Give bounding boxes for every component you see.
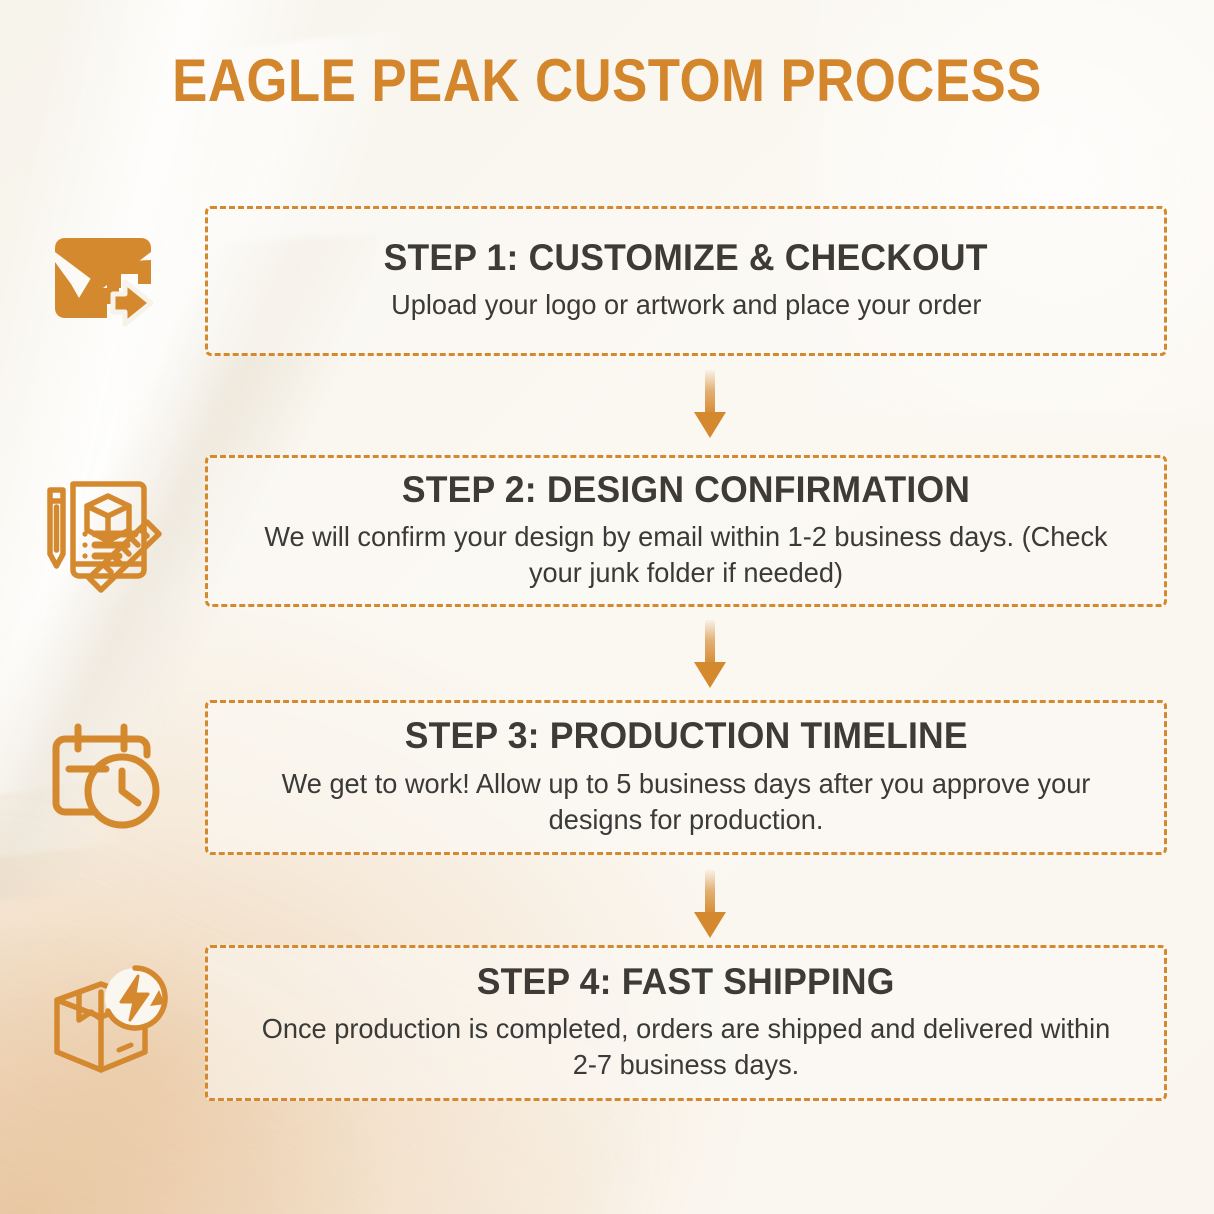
arrow-down-icon <box>690 870 730 940</box>
step-1-heading: STEP 1: CUSTOMIZE & CHECKOUT <box>384 237 988 278</box>
design-document-icon <box>0 468 205 594</box>
arrow-down-icon <box>690 370 730 440</box>
arrow-down-icon <box>690 620 730 690</box>
step-row-2: STEP 2: DESIGN CONFIRMATION We will conf… <box>0 455 1214 607</box>
step-2-heading: STEP 2: DESIGN CONFIRMATION <box>402 469 970 510</box>
step-4-description: Once production is completed, orders are… <box>259 1011 1113 1083</box>
step-box-3: STEP 3: PRODUCTION TIMELINE We get to wo… <box>205 700 1167 855</box>
step-box-4: STEP 4: FAST SHIPPING Once production is… <box>205 945 1167 1101</box>
step-row-3: STEP 3: PRODUCTION TIMELINE We get to wo… <box>0 700 1214 855</box>
step-3-heading: STEP 3: PRODUCTION TIMELINE <box>404 715 967 756</box>
connector-3 <box>0 870 1214 940</box>
fast-shipping-box-icon <box>0 962 205 1084</box>
page-title: EAGLE PEAK CUSTOM PROCESS <box>73 46 1141 115</box>
infographic-canvas: EAGLE PEAK CUSTOM PROCESS STEP 1: CUSTOM… <box>0 0 1214 1214</box>
connector-2 <box>0 620 1214 690</box>
step-box-1: STEP 1: CUSTOMIZE & CHECKOUT Upload your… <box>205 206 1167 356</box>
step-4-heading: STEP 4: FAST SHIPPING <box>477 961 895 1002</box>
step-1-description: Upload your logo or artwork and place yo… <box>391 287 981 323</box>
envelope-send-icon <box>0 226 205 336</box>
step-box-2: STEP 2: DESIGN CONFIRMATION We will conf… <box>205 455 1167 607</box>
step-3-description: We get to work! Allow up to 5 business d… <box>259 766 1113 838</box>
step-2-description: We will confirm your design by email wit… <box>259 519 1113 591</box>
calendar-clock-icon <box>0 719 205 837</box>
step-row-1: STEP 1: CUSTOMIZE & CHECKOUT Upload your… <box>0 206 1214 356</box>
connector-1 <box>0 370 1214 440</box>
step-row-4: STEP 4: FAST SHIPPING Once production is… <box>0 945 1214 1101</box>
